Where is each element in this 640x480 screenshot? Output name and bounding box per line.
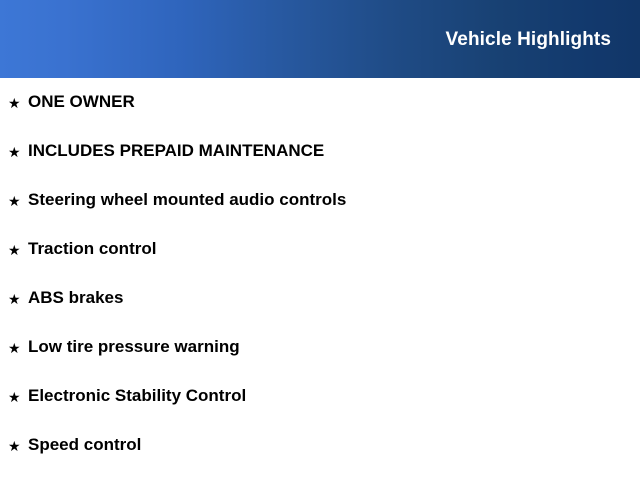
list-item-label: Steering wheel mounted audio controls	[28, 191, 346, 210]
header-banner: Vehicle Highlights	[0, 0, 640, 78]
list-item: ★ Steering wheel mounted audio controls	[0, 176, 640, 225]
list-item: ★ Electronic Stability Control	[0, 372, 640, 421]
list-item-label: ONE OWNER	[28, 93, 135, 112]
star-icon: ★	[8, 390, 28, 404]
star-icon: ★	[8, 292, 28, 306]
list-item-label: Traction control	[28, 240, 156, 259]
list-item-label: INCLUDES PREPAID MAINTENANCE	[28, 142, 324, 161]
star-icon: ★	[8, 243, 28, 257]
star-icon: ★	[8, 194, 28, 208]
vehicle-highlights-list: ★ ONE OWNER ★ INCLUDES PREPAID MAINTENAN…	[0, 78, 640, 470]
star-icon: ★	[8, 341, 28, 355]
list-item: ★ ABS brakes	[0, 274, 640, 323]
list-item-label: Speed control	[28, 436, 141, 455]
list-item: ★ Traction control	[0, 225, 640, 274]
list-item: ★ ONE OWNER	[0, 78, 640, 127]
vehicle-highlights-page: Vehicle Highlights ★ ONE OWNER ★ INCLUDE…	[0, 0, 640, 480]
star-icon: ★	[8, 145, 28, 159]
list-item-label: Electronic Stability Control	[28, 387, 246, 406]
list-item: ★ Speed control	[0, 421, 640, 470]
list-item-label: Low tire pressure warning	[28, 338, 240, 357]
star-icon: ★	[8, 439, 28, 453]
list-item: ★ INCLUDES PREPAID MAINTENANCE	[0, 127, 640, 176]
page-title: Vehicle Highlights	[446, 30, 611, 49]
list-item: ★ Low tire pressure warning	[0, 323, 640, 372]
list-item-label: ABS brakes	[28, 289, 123, 308]
star-icon: ★	[8, 96, 28, 110]
